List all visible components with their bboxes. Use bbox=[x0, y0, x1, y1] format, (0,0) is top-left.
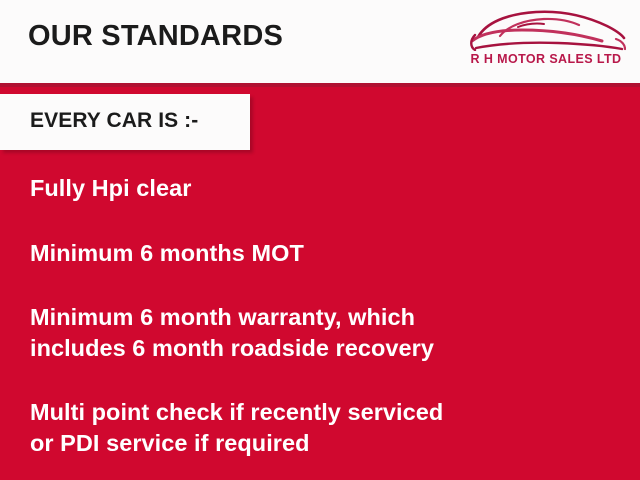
standards-list: Fully Hpi clear Minimum 6 months MOT Min… bbox=[30, 173, 620, 458]
header-divider bbox=[0, 83, 640, 87]
ribbon-label: EVERY CAR IS :- bbox=[30, 108, 198, 133]
page-title: OUR STANDARDS bbox=[28, 22, 283, 51]
company-logo: R H MOTOR SALES LTD bbox=[466, 7, 626, 75]
list-item: Fully Hpi clear bbox=[30, 173, 620, 204]
poster-header: OUR STANDARDS bbox=[0, 0, 640, 83]
sports-car-outline-icon bbox=[466, 7, 626, 51]
list-item: Minimum 6 months MOT bbox=[30, 238, 620, 269]
logo-wordmark: R H MOTOR SALES LTD bbox=[466, 52, 626, 66]
list-item: Minimum 6 month warranty, which includes… bbox=[30, 302, 620, 363]
list-item: Multi point check if recently serviced o… bbox=[30, 397, 620, 458]
every-car-is-ribbon: EVERY CAR IS :- bbox=[0, 94, 250, 150]
standards-poster: OUR STANDARDS bbox=[0, 0, 640, 480]
